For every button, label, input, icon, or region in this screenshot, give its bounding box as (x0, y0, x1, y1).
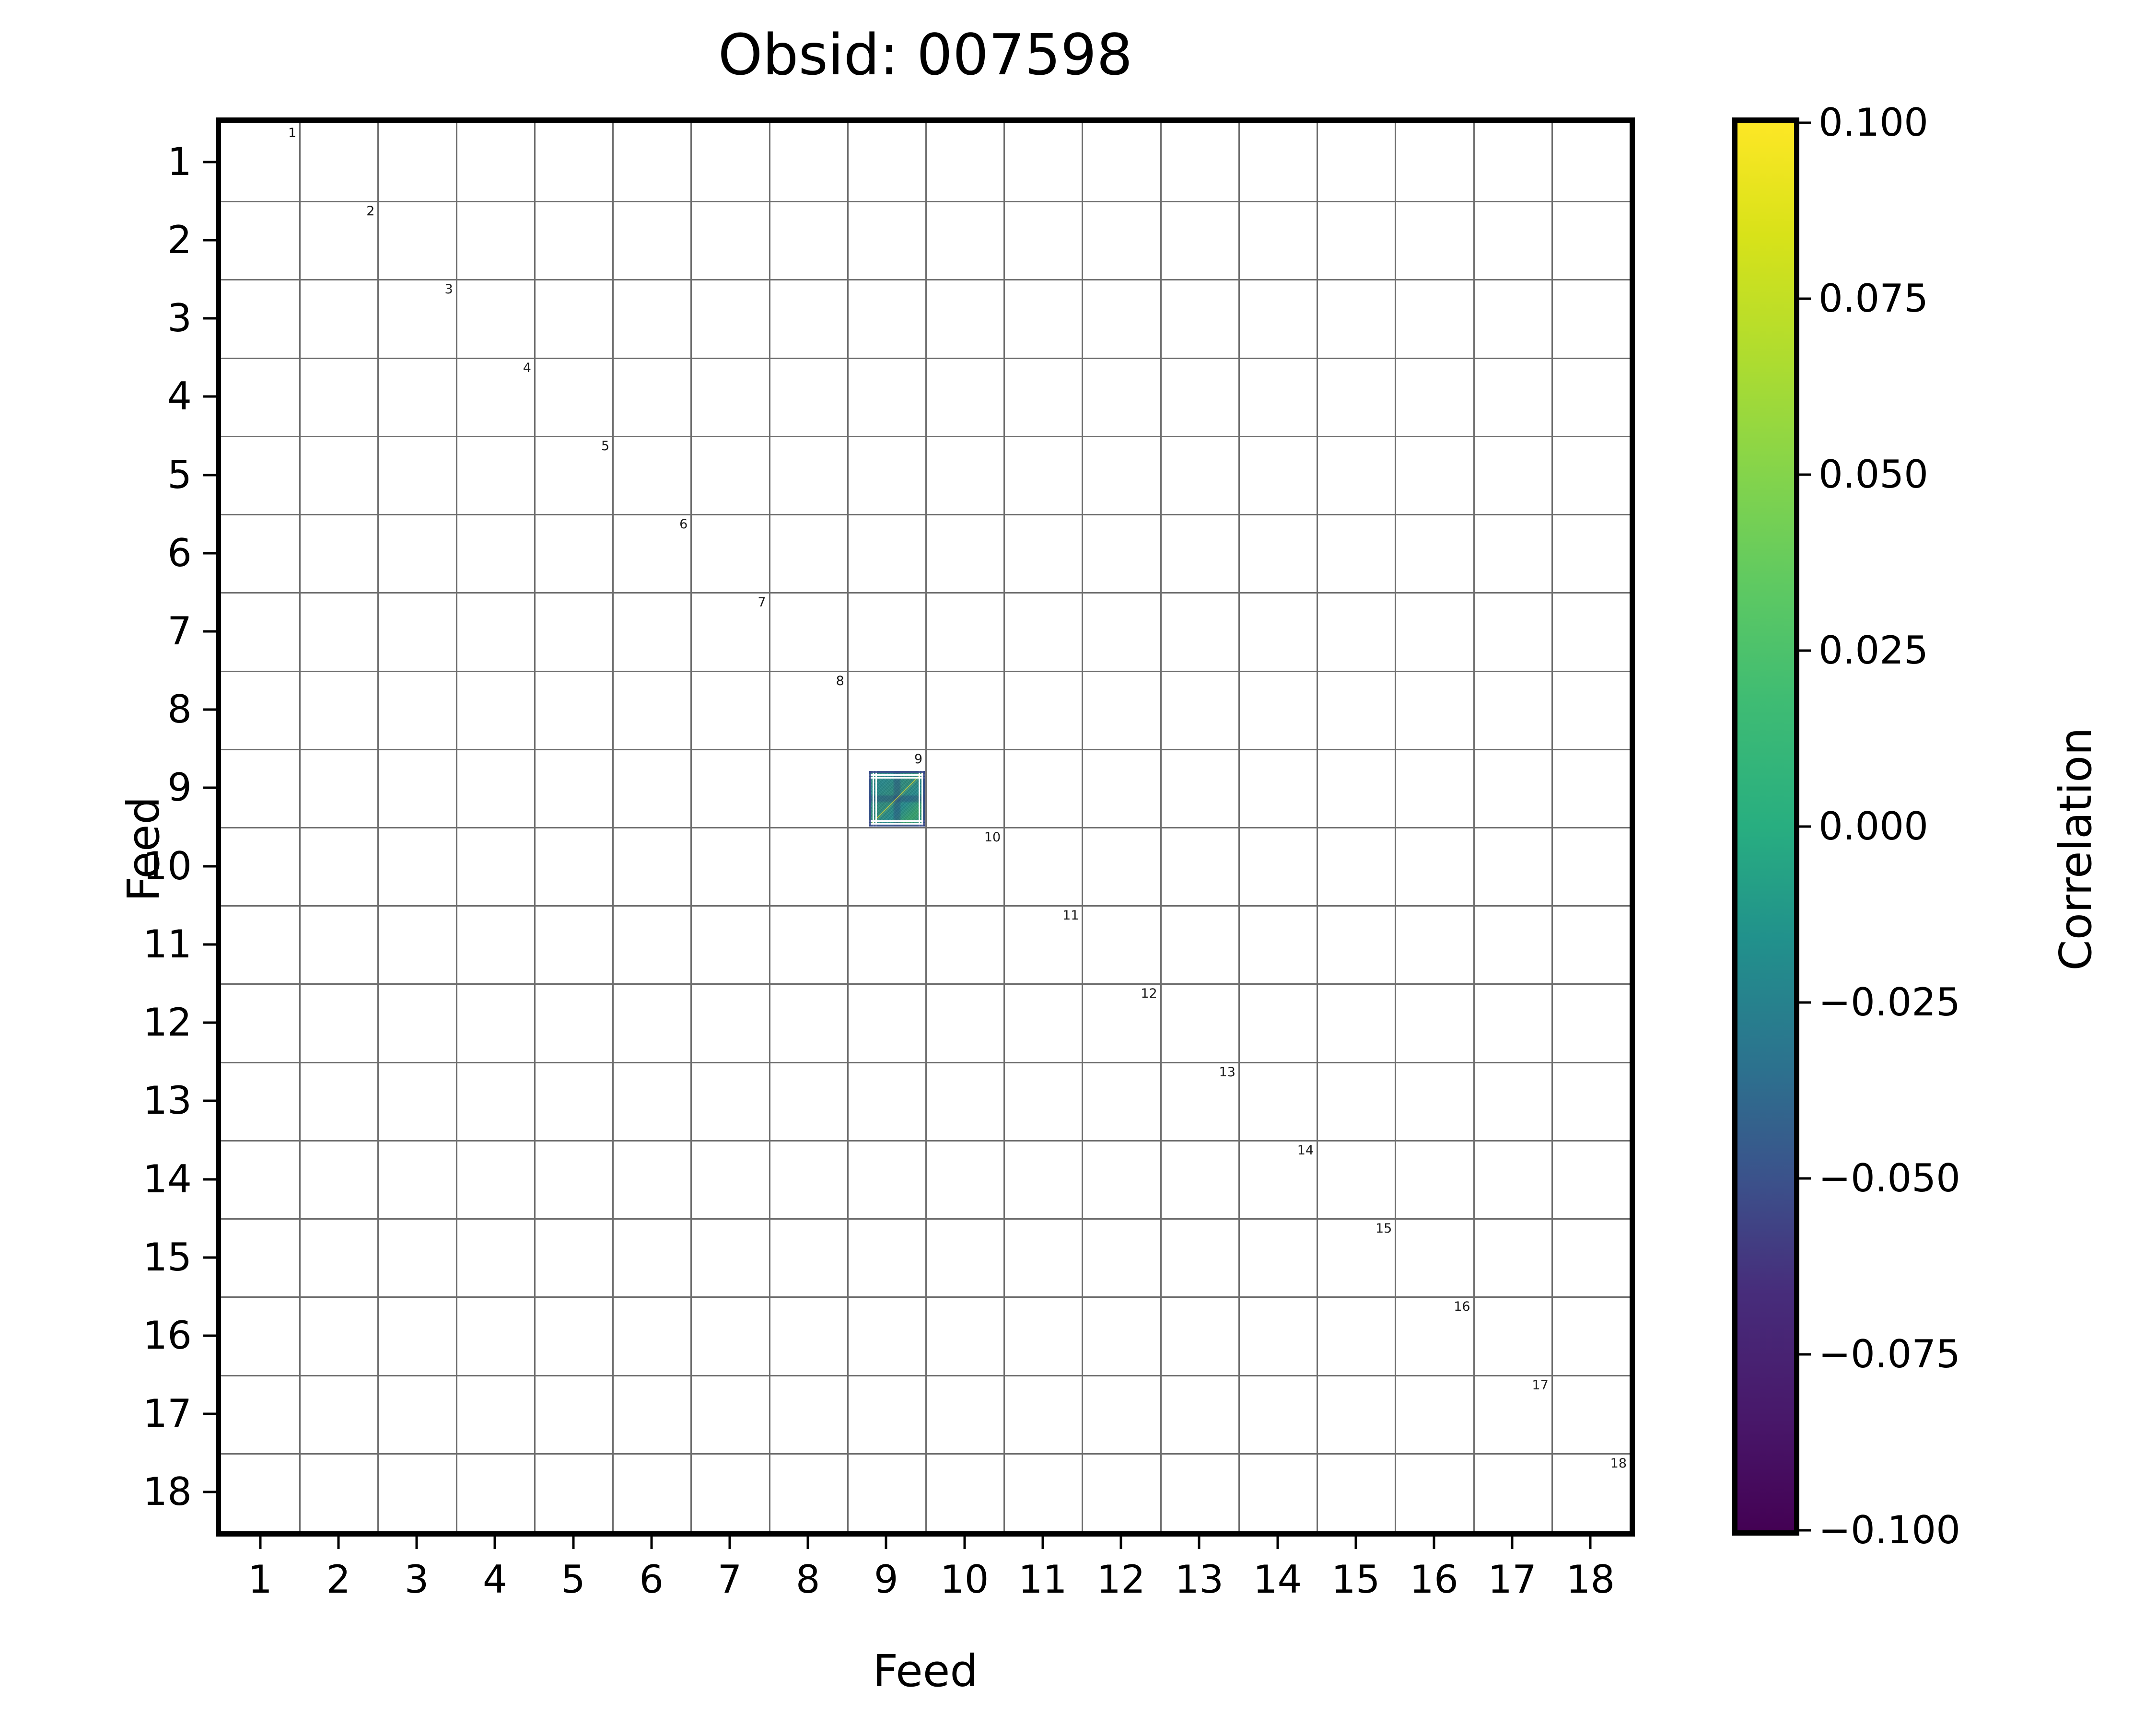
y-axis-tick (203, 1100, 217, 1102)
gridline-horizontal (221, 983, 1630, 985)
correlation-submatrix-feed-9[interactable] (869, 771, 924, 826)
x-axis-tick (1041, 1536, 1044, 1549)
y-axis-tick (203, 943, 217, 945)
x-axis-tick-label: 11 (1018, 1561, 1067, 1599)
x-axis-tick-label: 15 (1331, 1561, 1380, 1599)
gridline-horizontal (221, 1296, 1630, 1298)
y-axis-tick-label: 4 (105, 377, 192, 416)
colorbar-tick (1797, 1529, 1811, 1532)
x-axis-tick-label: 7 (717, 1561, 742, 1599)
colorbar-tick-label: −0.100 (1819, 1511, 1960, 1550)
colorbar-tick-label: 0.100 (1819, 104, 1928, 142)
x-axis-tick (1433, 1536, 1435, 1549)
diagonal-cell-label: 17 (1532, 1379, 1548, 1392)
y-axis-tick (203, 1491, 217, 1493)
y-axis-tick (203, 865, 217, 867)
gridline-vertical (1473, 123, 1475, 1531)
x-axis-tick (1276, 1536, 1279, 1549)
y-axis-tick (203, 1022, 217, 1024)
y-axis-tick-label: 15 (105, 1238, 192, 1277)
y-axis-tick (203, 239, 217, 241)
gridline-vertical (1160, 123, 1162, 1531)
diagonal-cell-label: 9 (914, 753, 922, 766)
y-axis-tick (203, 552, 217, 554)
colorbar-tick (1797, 650, 1811, 652)
gridline-vertical (1395, 123, 1396, 1531)
y-axis-tick-label: 5 (105, 456, 192, 494)
gridline-horizontal (221, 1375, 1630, 1376)
colorbar-tick (1797, 474, 1811, 476)
submatrix-edge-vertical (869, 771, 871, 826)
y-axis-tick-label: 1 (105, 143, 192, 181)
diagonal-cell-label: 2 (366, 205, 374, 218)
gridline-horizontal (221, 905, 1630, 907)
colorbar-tick-label: −0.050 (1819, 1159, 1960, 1198)
x-axis-tick-label: 17 (1488, 1561, 1537, 1599)
submatrix-separator-vertical (873, 771, 874, 826)
x-axis-tick (416, 1536, 418, 1549)
gridline-horizontal (221, 1062, 1630, 1063)
y-axis-tick (203, 1178, 217, 1180)
colorbar-tick (1797, 1177, 1811, 1180)
diagonal-cell-label: 4 (523, 361, 531, 374)
y-axis-tick (203, 1256, 217, 1258)
diagonal-cell-label: 18 (1610, 1457, 1627, 1470)
gridline-vertical (1551, 123, 1553, 1531)
diagonal-cell-label: 11 (1062, 909, 1079, 922)
diagonal-cell-label: 7 (758, 596, 766, 609)
colorbar-tick-label: 0.025 (1819, 631, 1928, 670)
x-axis-tick-label: 4 (483, 1561, 507, 1599)
x-axis-tick (1120, 1536, 1122, 1549)
x-axis-tick (885, 1536, 887, 1549)
x-axis-tick-label: 8 (796, 1561, 820, 1599)
y-axis-tick-label: 13 (105, 1082, 192, 1120)
submatrix-edge-horizontal (869, 825, 924, 826)
submatrix-separator-horizontal (869, 774, 924, 776)
y-axis-tick-label: 8 (105, 690, 192, 729)
y-axis-tick-label: 7 (105, 612, 192, 651)
diagonal-cell-label: 3 (444, 283, 453, 296)
diagonal-cell-label: 10 (984, 831, 1001, 844)
gridline-horizontal (221, 1218, 1630, 1220)
y-axis-tick-label: 11 (105, 925, 192, 964)
y-axis-tick (203, 787, 217, 789)
x-axis-tick-label: 13 (1175, 1561, 1224, 1599)
y-axis-tick (203, 1413, 217, 1415)
x-axis-tick (650, 1536, 653, 1549)
submatrix-edge-vertical (923, 771, 924, 826)
diagonal-cell-label: 6 (679, 518, 688, 531)
colorbar-tick (1797, 122, 1811, 124)
diagonal-cell-label: 12 (1141, 987, 1157, 1000)
x-axis-tick (572, 1536, 574, 1549)
gridline-vertical (1082, 123, 1083, 1531)
gridline-horizontal (221, 827, 1630, 828)
y-axis-tick-label: 18 (105, 1473, 192, 1511)
x-axis-tick-label: 5 (561, 1561, 585, 1599)
colorbar-tick-label: 0.075 (1819, 280, 1928, 318)
diagonal-cell-label: 13 (1219, 1066, 1236, 1079)
x-axis-tick (963, 1536, 966, 1549)
diagonal-cell-label: 1 (288, 127, 296, 140)
submatrix-separator-horizontal (869, 777, 924, 779)
x-axis-tick (259, 1536, 261, 1549)
y-axis-tick (203, 474, 217, 476)
y-axis-tick-label: 6 (105, 534, 192, 572)
gridline-vertical (1317, 123, 1318, 1531)
submatrix-separator-vertical (875, 771, 877, 826)
y-axis-tick-label: 17 (105, 1395, 192, 1433)
x-axis-tick (1198, 1536, 1201, 1549)
x-axis-tick-label: 6 (639, 1561, 664, 1599)
y-axis-tick (203, 317, 217, 320)
diagonal-cell-label: 15 (1376, 1222, 1392, 1235)
x-axis-tick-label: 2 (326, 1561, 350, 1599)
y-axis-tick-label: 14 (105, 1160, 192, 1199)
x-axis-tick-label: 3 (405, 1561, 429, 1599)
x-axis-tick-label: 12 (1096, 1561, 1145, 1599)
gridline-vertical (1003, 123, 1005, 1531)
y-axis-tick (203, 630, 217, 632)
y-axis-tick-label: 10 (105, 847, 192, 885)
colorbar[interactable] (1732, 117, 1799, 1536)
x-axis-tick (807, 1536, 809, 1549)
submatrix-edge-horizontal (869, 771, 924, 773)
submatrix-separator-horizontal (869, 820, 924, 822)
y-axis-tick-label: 9 (105, 769, 192, 807)
y-axis-tick-label: 16 (105, 1317, 192, 1355)
heatmap-axes[interactable]: 123456789101112131415161718 (216, 117, 1635, 1537)
x-axis-tick (1354, 1536, 1357, 1549)
y-axis-tick-label: 12 (105, 1003, 192, 1042)
x-axis-label: Feed (216, 1649, 1635, 1693)
gridline-horizontal (221, 1140, 1630, 1142)
heatmap-plot-area[interactable]: 123456789101112131415161718 (221, 123, 1630, 1531)
colorbar-tick (1797, 1353, 1811, 1356)
colorbar-tick-label: 0.000 (1819, 807, 1928, 846)
x-axis-tick (728, 1536, 731, 1549)
y-axis-tick-label: 3 (105, 299, 192, 338)
y-axis-tick (203, 1334, 217, 1337)
x-axis-tick-label: 16 (1410, 1561, 1458, 1599)
x-axis-tick-label: 1 (248, 1561, 272, 1599)
gridline-horizontal (221, 1453, 1630, 1455)
diagonal-cell-label: 5 (601, 440, 609, 453)
x-axis-tick-label: 9 (874, 1561, 898, 1599)
diagonal-cell-label: 16 (1454, 1300, 1470, 1313)
y-axis-tick-label: 2 (105, 221, 192, 259)
colorbar-tick (1797, 298, 1811, 300)
figure-canvas: Obsid: 007598 12345678910111213141516171… (0, 0, 2145, 1736)
x-axis-tick-label: 10 (940, 1561, 989, 1599)
y-axis-tick (203, 709, 217, 711)
colorbar-tick-label: 0.050 (1819, 455, 1928, 494)
y-axis-tick (203, 396, 217, 398)
diagonal-cell-label: 14 (1297, 1144, 1314, 1157)
x-axis-tick (337, 1536, 339, 1549)
submatrix-separator-vertical (919, 771, 920, 826)
y-axis-tick (203, 161, 217, 163)
x-axis-tick-label: 18 (1566, 1561, 1615, 1599)
diagonal-cell-label: 8 (836, 675, 844, 687)
x-axis-tick-label: 14 (1253, 1561, 1302, 1599)
colorbar-tick-label: −0.075 (1819, 1335, 1960, 1374)
x-axis-tick (1511, 1536, 1514, 1549)
page-title: Obsid: 007598 (216, 26, 1635, 83)
colorbar-tick (1797, 826, 1811, 828)
colorbar-tick (1797, 1002, 1811, 1004)
colorbar-tick-label: −0.025 (1819, 983, 1960, 1022)
colorbar-label: Correlation (2054, 705, 2098, 993)
correlation-unit-diagonal (869, 771, 924, 826)
gridline-vertical (1238, 123, 1240, 1531)
x-axis-tick (1589, 1536, 1592, 1549)
x-axis-tick (494, 1536, 496, 1549)
